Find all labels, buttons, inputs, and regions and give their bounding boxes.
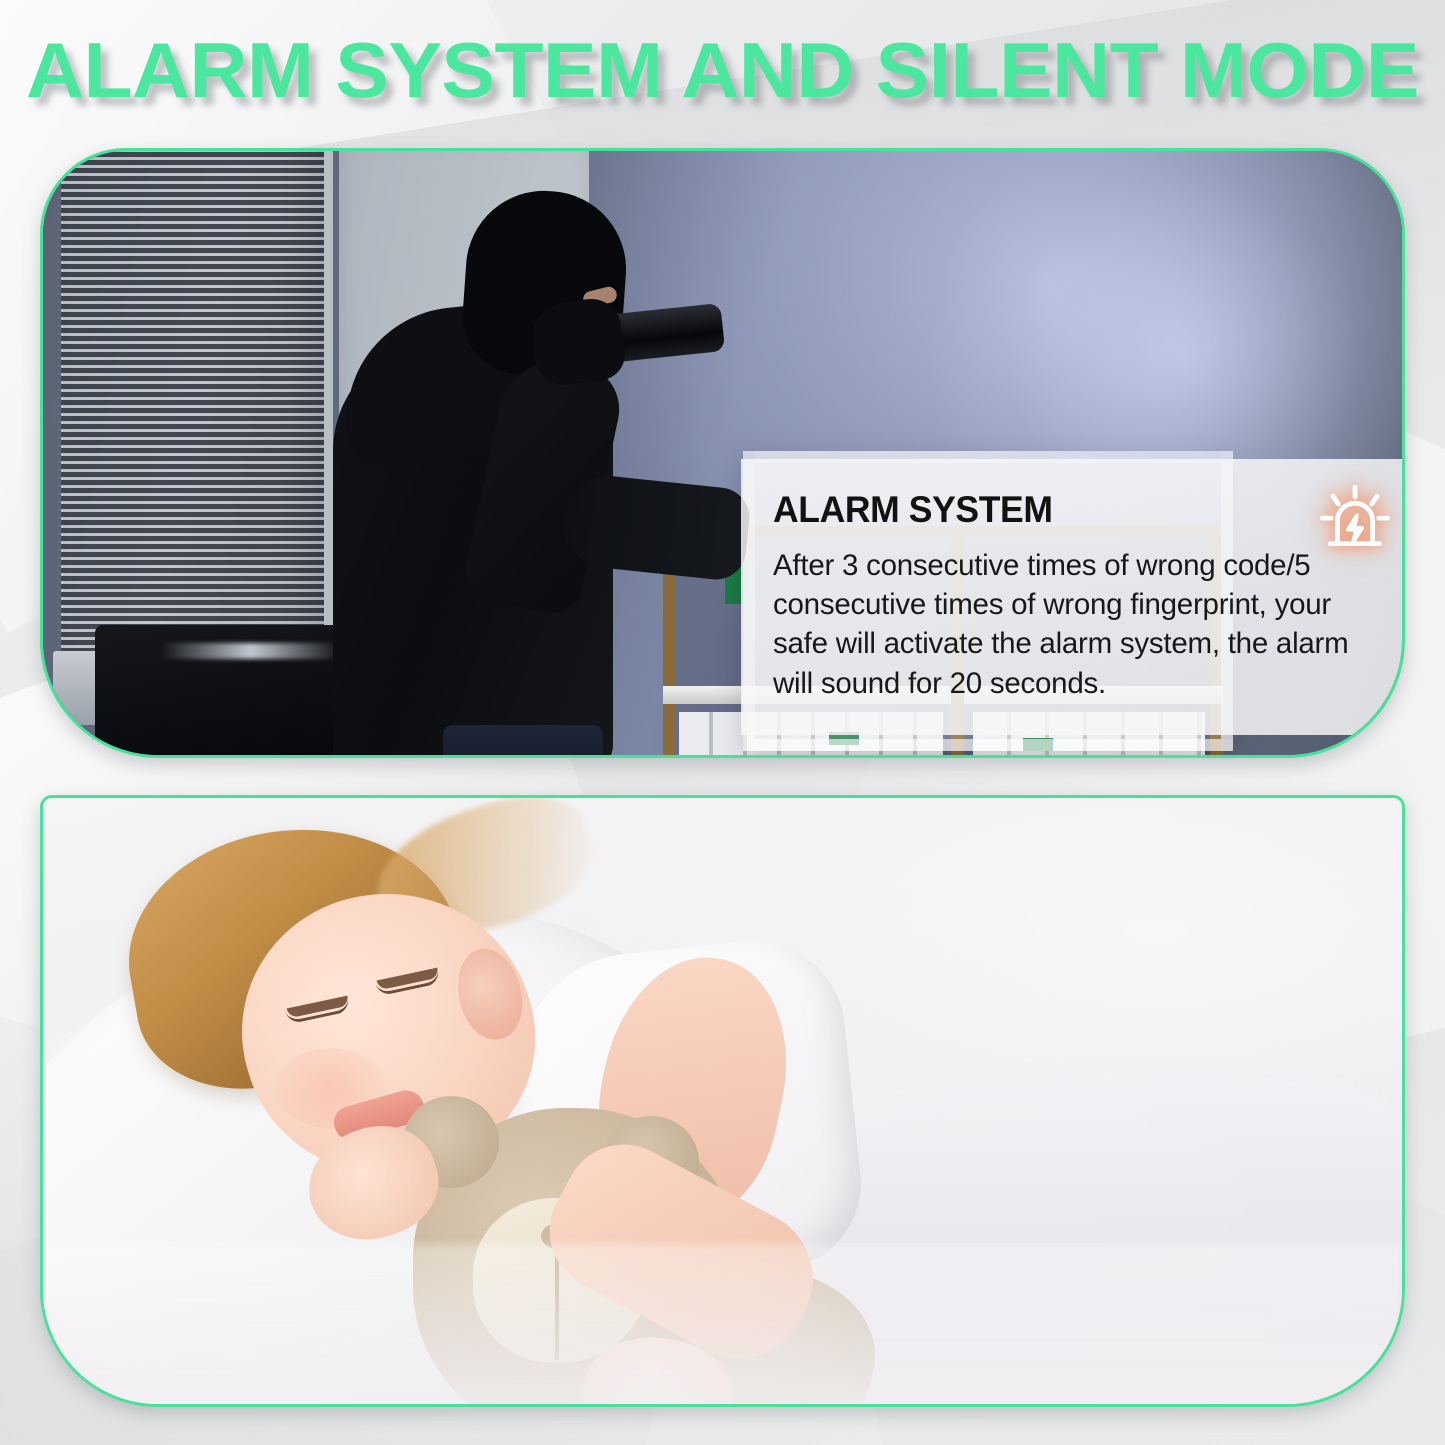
- sleeping-child-scene-image: [43, 798, 1402, 1404]
- silent-mode-panel: SILENT MODE The silent mode of a gun saf…: [40, 795, 1405, 1407]
- page-title: ALARM SYSTEM AND SILENT MODE: [0, 31, 1445, 109]
- window-blinds: [61, 148, 324, 681]
- alarm-system-body-text: After 3 consecutive times of wrong code/…: [773, 546, 1387, 703]
- burglar-jeans: [443, 725, 603, 758]
- bed-sheet: [43, 1244, 1402, 1407]
- burglar-figure: [315, 191, 745, 758]
- alarm-system-panel: ALARM SYSTEM After 3 consecutive times o…: [40, 148, 1405, 758]
- siren-icon: [1311, 475, 1399, 563]
- alarm-system-info-card: ALARM SYSTEM After 3 consecutive times o…: [741, 459, 1405, 735]
- alarm-system-heading: ALARM SYSTEM: [773, 489, 1362, 531]
- monitor-glow: [161, 643, 341, 659]
- window-with-blinds: [61, 148, 333, 681]
